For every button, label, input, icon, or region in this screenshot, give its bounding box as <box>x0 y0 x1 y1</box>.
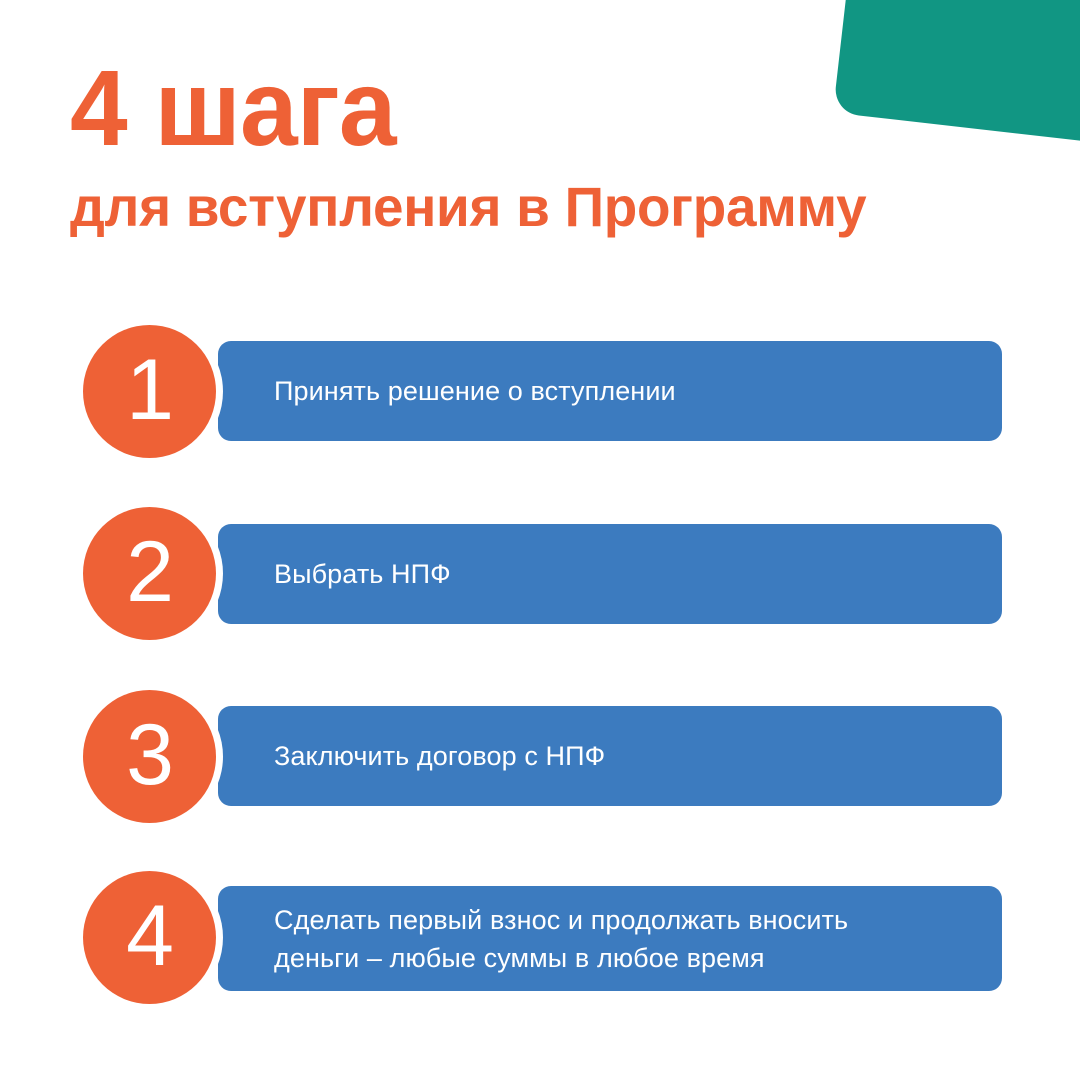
step-badge-1: 1 <box>83 325 216 458</box>
step-label-4: Сделать первый взнос и продолжать вносит… <box>218 901 878 977</box>
step-number-3: 3 <box>126 712 173 798</box>
step-bar-2: Выбрать НПФ <box>218 524 1002 624</box>
step-bar-3: Заключить договор с НПФ <box>218 706 1002 806</box>
steps-list: Принять решение о вступлении 1 Выбрать Н… <box>0 0 1080 1080</box>
step-badge-2: 2 <box>83 507 216 640</box>
infographic-canvas: 4 шага для вступления в Программу Принят… <box>0 0 1080 1080</box>
step-badge-4: 4 <box>83 871 216 1004</box>
step-label-2: Выбрать НПФ <box>218 556 481 592</box>
step-bar-1: Принять решение о вступлении <box>218 341 1002 441</box>
step-label-1: Принять решение о вступлении <box>218 373 706 409</box>
step-badge-3: 3 <box>83 690 216 823</box>
step-number-2: 2 <box>126 529 173 615</box>
step-label-3: Заключить договор с НПФ <box>218 738 635 774</box>
step-bar-4: Сделать первый взнос и продолжать вносит… <box>218 886 1002 991</box>
step-number-1: 1 <box>126 347 173 433</box>
step-number-4: 4 <box>126 893 173 979</box>
